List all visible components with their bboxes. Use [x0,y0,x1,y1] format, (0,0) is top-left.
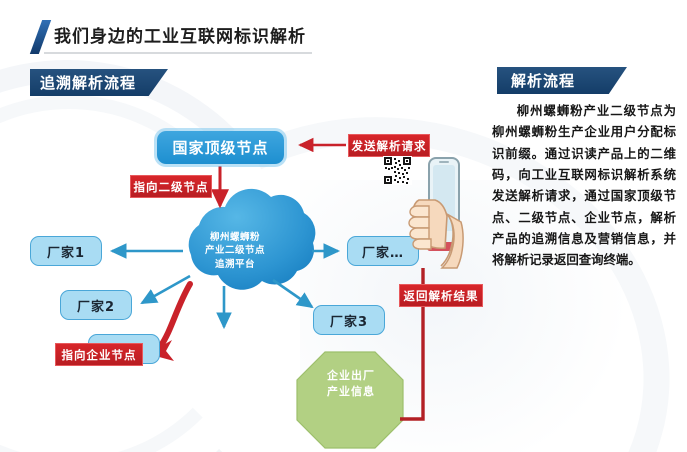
tag-return-result: 返回解析结果 [399,284,483,307]
node-factory-1[interactable]: 厂家1 [30,236,102,266]
infographic-page: 我们身边的工业互联网标识解析 追溯解析流程 解析流程 柳州螺蛳粉产业二级节点为柳… [0,0,687,452]
cloud-shape [189,189,316,290]
node-factory-3b[interactable]: 厂家3 [313,305,385,335]
side-panel: 柳州螺蛳粉产业二级节点为柳州螺蛳粉生产企业用户分配标识前缀。通过识读产品上的二维… [492,100,676,271]
side-panel-paragraph: 柳州螺蛳粉产业二级节点为柳州螺蛳粉生产企业用户分配标识前缀。通过识读产品上的二维… [492,100,676,271]
arrow-cloud-to-factory-3b [273,280,312,307]
hand-holding-phone-icon [383,156,463,272]
tag-send-request: 发送解析请求 [348,134,430,157]
flow-diagram: 柳州螺蛳粉 产业二级节点 追溯平台 企业出厂 产业信息 国家顶级节点 厂家1 厂… [0,0,470,452]
banner-resolution-process: 解析流程 [497,67,627,94]
tag-point-to-second-node: 指向二级节点 [130,175,212,198]
tag-point-to-enterprise-node: 指向企业节点 [55,343,143,366]
octagon-shape [297,352,403,448]
node-factory-2[interactable]: 厂家2 [60,290,132,320]
phone-hand-illustration [407,156,487,272]
node-national-top[interactable]: 国家顶级节点 [157,131,284,164]
